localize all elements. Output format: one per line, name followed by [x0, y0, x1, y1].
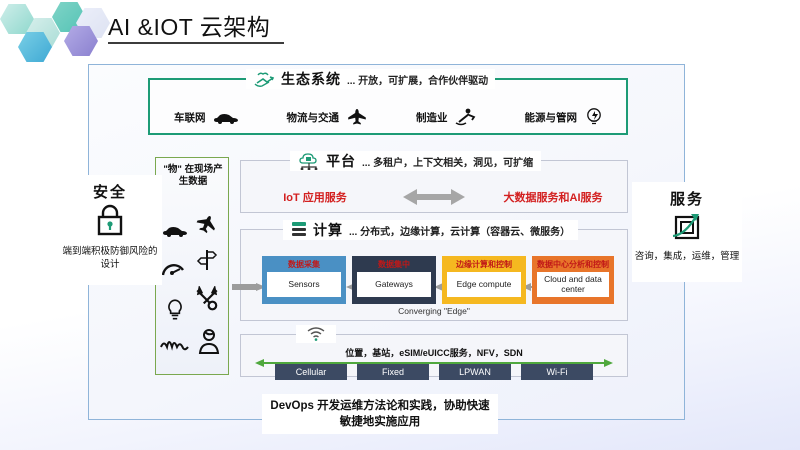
compute-subtitle: ... 分布式，边缘计算，云计算（容器云、微服务） — [349, 223, 570, 238]
compute-box-sensors[interactable]: 数据采集 Sensors — [262, 256, 346, 304]
compute-box-cloud[interactable]: 数据中心分析和控制 Cloud and data center — [532, 256, 614, 304]
compute-box-header: 数据中心分析和控制 — [534, 258, 612, 270]
handshake-cloud-icon — [253, 71, 275, 87]
robot-arm-icon — [455, 108, 477, 126]
things-column: "物" 在现场产生数据 — [155, 157, 229, 375]
person-icon — [198, 328, 220, 354]
security-card: 安全 端到端积极防御风险的设计 — [58, 175, 162, 285]
compute-box-body: Gateways — [357, 272, 431, 297]
ecosystem-item-label: 车联网 — [174, 110, 206, 125]
platform-left-label: IoT 应用服务 — [240, 189, 390, 205]
cloud-network-icon — [298, 152, 320, 170]
pill-wifi[interactable]: Wi-Fi — [521, 364, 593, 380]
compute-box-body: Cloud and data center — [537, 272, 609, 297]
pill-cellular[interactable]: Cellular — [275, 364, 347, 380]
pill-fixed[interactable]: Fixed — [357, 364, 429, 380]
platform-row: IoT 应用服务 大数据服务和AI服务 — [240, 182, 628, 212]
compute-box-header: 数据集中 — [354, 258, 434, 270]
things-label: "物" 在现场产生数据 — [156, 164, 230, 188]
car-icon — [213, 111, 239, 124]
compute-caption: 计算 ... 分布式，边缘计算，云计算（容器云、微服务） — [283, 220, 578, 240]
wifi-icon — [306, 326, 326, 342]
platform-arrow — [390, 187, 478, 207]
ecosystem-item-manufacturing: 制造业 — [416, 108, 477, 126]
security-title: 安全 — [58, 181, 162, 202]
server-stack-icon — [291, 221, 307, 239]
airplane-icon — [346, 108, 368, 126]
compute-boxes: 数据采集 Sensors 数据集中 Gateways 边缘计算和控制 Edge … — [262, 256, 614, 304]
platform-caption: 平台 ... 多租户，上下文相关，洞见，可扩缩 — [290, 151, 541, 171]
devops-banner: DevOps 开发运维方法论和实践，协助快速敏捷地实施应用 — [262, 394, 498, 434]
ecosystem-item-vehicle-network: 车联网 — [174, 110, 239, 125]
ecosystem-subtitle: ... 开放，可扩展，合作伙伴驱动 — [347, 72, 488, 87]
converging-edge-label: Converging "Edge" — [240, 306, 628, 316]
lightbulb-bolt-icon — [584, 107, 604, 127]
compute-box-edge[interactable]: 边缘计算和控制 Edge compute — [442, 256, 526, 304]
compute-box-body: Edge compute — [447, 272, 521, 297]
connectivity-text: 位置，基站，eSIM/eUICC服务，NFV，SDN — [240, 346, 628, 359]
pill-lpwan[interactable]: LPWAN — [439, 364, 511, 380]
airplane-icon — [194, 214, 218, 236]
compute-box-body: Sensors — [267, 272, 341, 297]
compute-box-header: 边缘计算和控制 — [444, 258, 524, 270]
security-description: 端到端积极防御风险的设计 — [58, 245, 162, 271]
growth-chart-icon — [671, 211, 703, 241]
title-underline — [108, 42, 284, 44]
things-icon-list — [156, 210, 230, 372]
platform-subtitle: ... 多租户，上下文相关，洞见，可扩缩 — [362, 154, 533, 169]
platform-right-label: 大数据服务和AI服务 — [478, 189, 628, 205]
page-title: AI &IOT 云架构 — [108, 8, 270, 42]
signpost-icon — [196, 248, 218, 272]
ecosystem-items: 车联网 物流与交通 制造业 能源与管网 — [150, 100, 628, 134]
gauge-icon — [161, 260, 187, 278]
ecosystem-item-logistics: 物流与交通 — [287, 108, 369, 126]
hexagon-decoration — [0, 0, 110, 52]
services-title: 服务 — [632, 188, 742, 209]
compute-box-header: 数据采集 — [264, 258, 344, 270]
services-description: 咨询，集成，运维，管理 — [632, 250, 742, 263]
compute-title: 计算 — [313, 220, 343, 240]
ecosystem-title: 生态系统 — [281, 69, 341, 89]
ecosystem-caption: 生态系统 ... 开放，可扩展，合作伙伴驱动 — [246, 69, 495, 89]
platform-title: 平台 — [326, 151, 356, 171]
heartbeat-icon — [160, 336, 190, 354]
connectivity-caption — [296, 325, 336, 343]
car-icon — [162, 224, 188, 237]
compute-box-gateways[interactable]: 数据集中 Gateways — [352, 256, 436, 304]
page-header: AI &IOT 云架构 — [0, 0, 800, 52]
arrow-into-sensors — [232, 283, 266, 291]
tools-icon — [194, 286, 220, 312]
double-arrow-icon — [403, 187, 465, 207]
lightbulb-icon — [164, 298, 186, 322]
ecosystem-item-label: 能源与管网 — [525, 110, 578, 125]
ecosystem-item-label: 物流与交通 — [287, 110, 340, 125]
services-card: 服务 咨询，集成，运维，管理 — [632, 182, 742, 282]
connectivity-pills: Cellular Fixed LPWAN Wi-Fi — [240, 364, 628, 380]
lock-icon — [95, 204, 125, 236]
ecosystem-item-label: 制造业 — [416, 110, 448, 125]
ecosystem-item-energy: 能源与管网 — [525, 107, 605, 127]
